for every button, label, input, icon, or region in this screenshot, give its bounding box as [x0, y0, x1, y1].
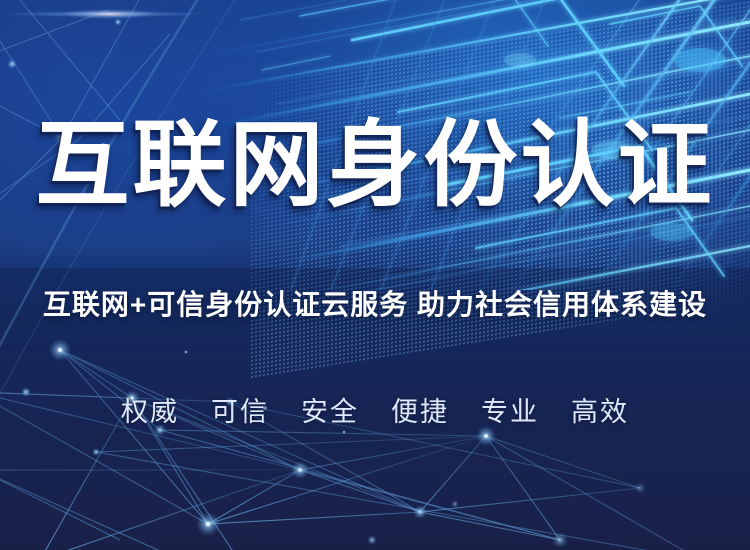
page-subtitle: 互联网+可信身份认证云服务 助力社会信用体系建设: [0, 286, 750, 324]
keyword-item: 专业: [481, 395, 539, 429]
lens-flare-decoration: [0, 0, 210, 28]
page-title: 互联网身份认证: [0, 113, 750, 217]
banner-root: 互联网身份认证 互联网+可信身份认证云服务 助力社会信用体系建设 权威 可信 安…: [0, 0, 750, 550]
keyword-item: 权威: [121, 395, 179, 429]
network-constellation-decoration: [0, 0, 750, 550]
circuit-board-decoration: [0, 0, 750, 550]
keyword-item: 便捷: [391, 395, 449, 429]
keyword-list: 权威 可信 安全 便捷 专业 高效: [0, 395, 750, 429]
keyword-item: 安全: [301, 395, 359, 429]
keyword-item: 高效: [571, 395, 629, 429]
background-gradient: [0, 0, 750, 550]
keyword-item: 可信: [211, 395, 269, 429]
